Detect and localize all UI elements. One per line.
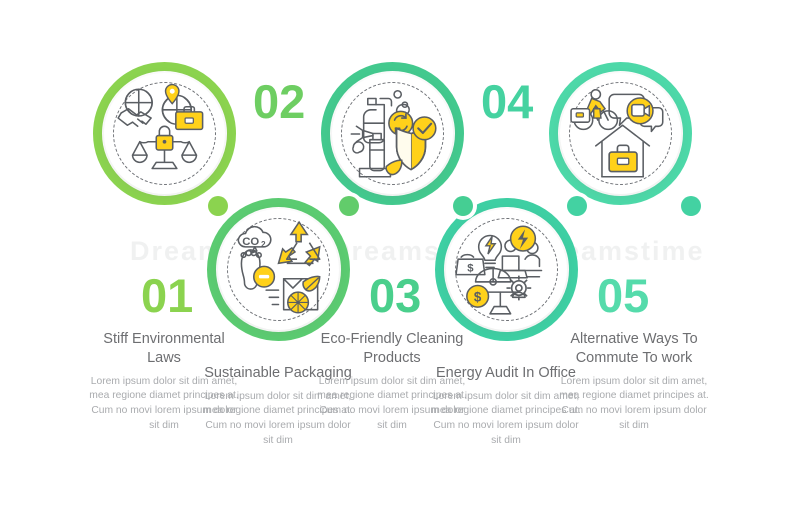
step-number-3: 03 [369,272,421,319]
step-body-5: Lorem ipsum dolor sit dim amet, mea regi… [558,375,710,433]
step-title-5: Alternative Ways To Commute To work [558,330,710,368]
connector-dot-end [681,196,701,216]
infographic-canvas: Dreamstime Dreamstime Dreamstime [0,0,800,520]
connector-dot-4-5 [567,196,587,216]
step-circle-5[interactable] [549,62,692,205]
step-title-3: Eco-Friendly Cleaning Products [316,330,468,368]
step-icon-group-3 [341,82,444,185]
step-number-2: 02 [253,78,305,125]
step-circle-4[interactable]: $ $ [435,198,578,341]
step-number-4: 04 [481,78,533,125]
step-circle-1[interactable] [93,62,236,205]
step-circle-3[interactable] [321,62,464,205]
svg-text:CO: CO [242,236,259,248]
step-icon-group-4: $ $ [455,218,558,321]
step-number-1: 01 [141,272,193,319]
connector-dot-1-2 [208,196,228,216]
step-circle-2[interactable]: CO 2 [207,198,350,341]
svg-text:2: 2 [261,240,266,249]
step-number-5: 05 [597,272,649,319]
connector-dot-3-4 [453,196,473,216]
step-text-5: Alternative Ways To Commute To work Lore… [558,330,710,433]
step-icon-group-5 [569,82,672,185]
connector-dot-2-3 [339,196,359,216]
step-icon-group-1 [113,82,216,185]
step-title-1: Stiff Environmental Laws [88,330,240,368]
svg-text:$: $ [474,289,482,304]
svg-text:$: $ [467,263,474,275]
step-icon-group-2: CO 2 [227,218,330,321]
